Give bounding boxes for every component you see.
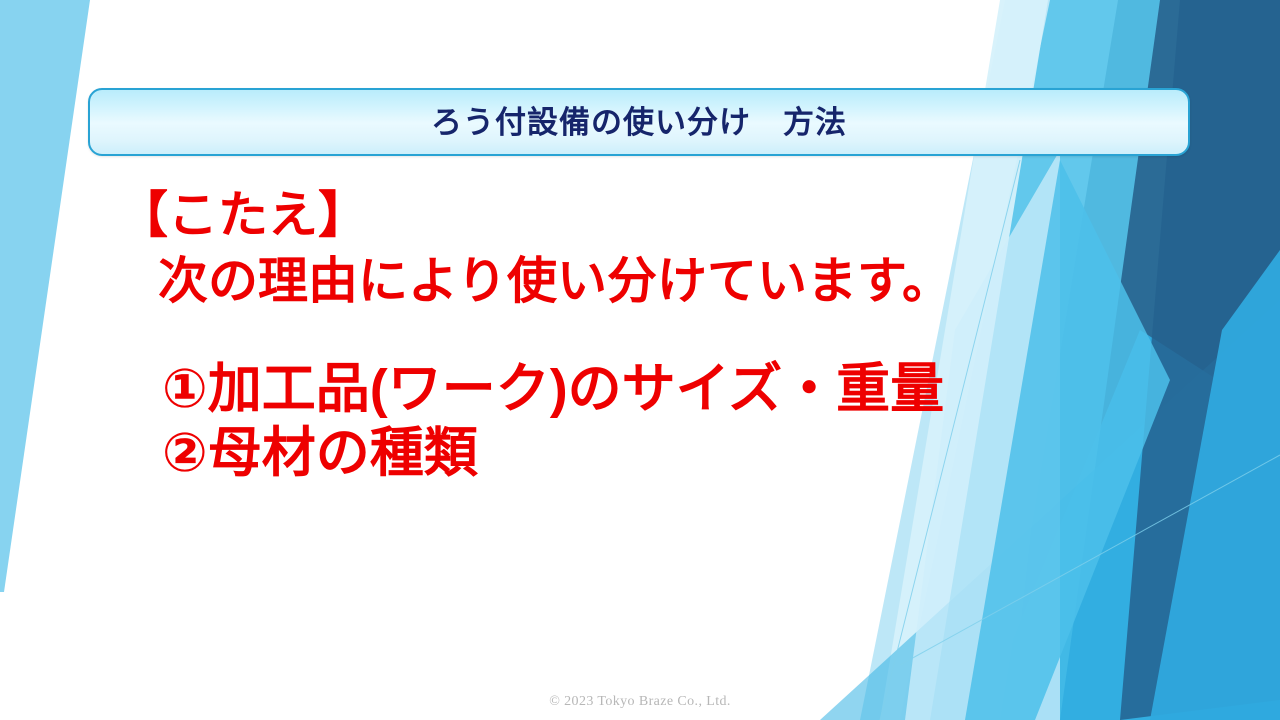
slide-body: 【こたえ】 次の理由により使い分けています。 ①加工品(ワーク)のサイズ・重量 … — [0, 188, 1010, 483]
slide-title-bar: ろう付設備の使い分け 方法 — [88, 88, 1190, 156]
bright-right-column-shape — [1150, 250, 1280, 720]
page-title: ろう付設備の使い分け 方法 — [431, 107, 847, 138]
right-sky-blue-shape — [980, 330, 1280, 720]
hairline-diagonal-2 — [900, 455, 1280, 665]
reason-line: 次の理由により使い分けています。 — [158, 254, 1010, 308]
reason-item-2: ②母材の種類 — [162, 424, 1010, 482]
reason-item-1: ①加工品(ワーク)のサイズ・重量 — [162, 360, 1010, 418]
answer-label: 【こたえ】 — [118, 188, 1010, 242]
body-spacer — [0, 308, 1010, 360]
presentation-slide: ろう付設備の使い分け 方法 【こたえ】 次の理由により使い分けています。 ①加工… — [0, 0, 1280, 720]
copyright-footer: © 2023 Tokyo Braze Co., Ltd. — [0, 694, 1280, 710]
